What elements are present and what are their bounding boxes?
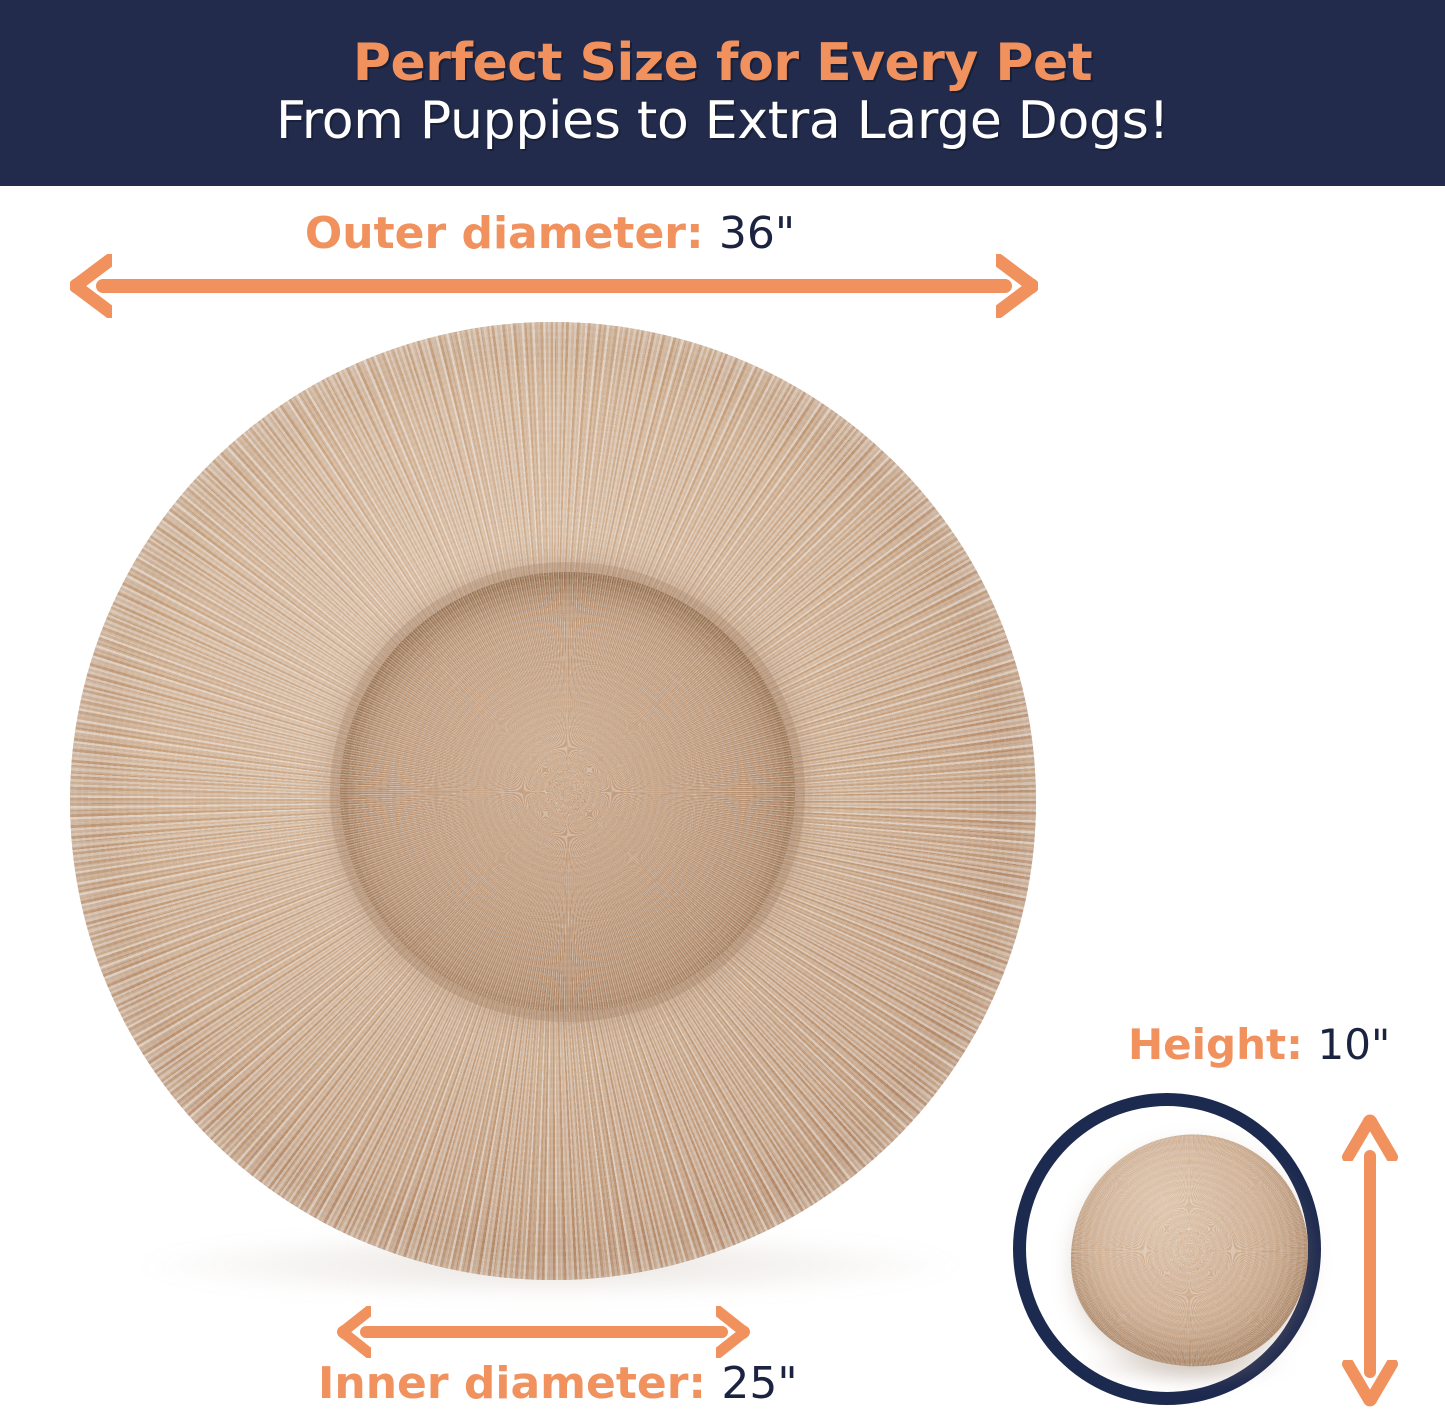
dog-bed-top-view-image: [70, 322, 1036, 1280]
outer-diameter-label: Outer diameter: 36": [0, 212, 1100, 256]
inner-diameter-label-text: Inner diameter:: [318, 1358, 721, 1409]
fur-texture-layer: [1059, 1123, 1320, 1379]
height-value: 10": [1318, 1020, 1391, 1069]
arrow-head-left-icon: [337, 1306, 371, 1358]
height-arrow-shaft: [1364, 1150, 1376, 1378]
inner-diameter-label: Inner diameter: 25": [318, 1362, 798, 1406]
page-subtitle: From Puppies to Extra Large Dogs!: [276, 94, 1169, 149]
height-label-text: Height:: [1128, 1020, 1318, 1069]
bed-inner-cushion: [340, 572, 795, 1012]
outer-diameter-label-text: Outer diameter:: [305, 208, 719, 259]
outer-diameter-arrow-shaft: [96, 279, 1012, 293]
page-title: Perfect Size for Every Pet: [353, 36, 1092, 90]
dog-bed-side-view-image: [1059, 1123, 1320, 1379]
outer-diameter-value: 36": [719, 208, 795, 259]
arrow-head-up-icon: [1342, 1113, 1398, 1161]
inner-diameter-arrow-shaft: [360, 1326, 728, 1338]
arrow-head-down-icon: [1342, 1360, 1398, 1408]
header-banner: Perfect Size for Every Pet From Puppies …: [0, 0, 1445, 186]
inner-diameter-value: 25": [721, 1358, 797, 1409]
arrow-head-right-icon: [996, 254, 1038, 318]
height-label: Height: 10": [1128, 1024, 1390, 1066]
fur-texture-layer: [340, 572, 795, 1012]
arrow-head-left-icon: [70, 254, 112, 318]
arrow-head-right-icon: [716, 1306, 750, 1358]
